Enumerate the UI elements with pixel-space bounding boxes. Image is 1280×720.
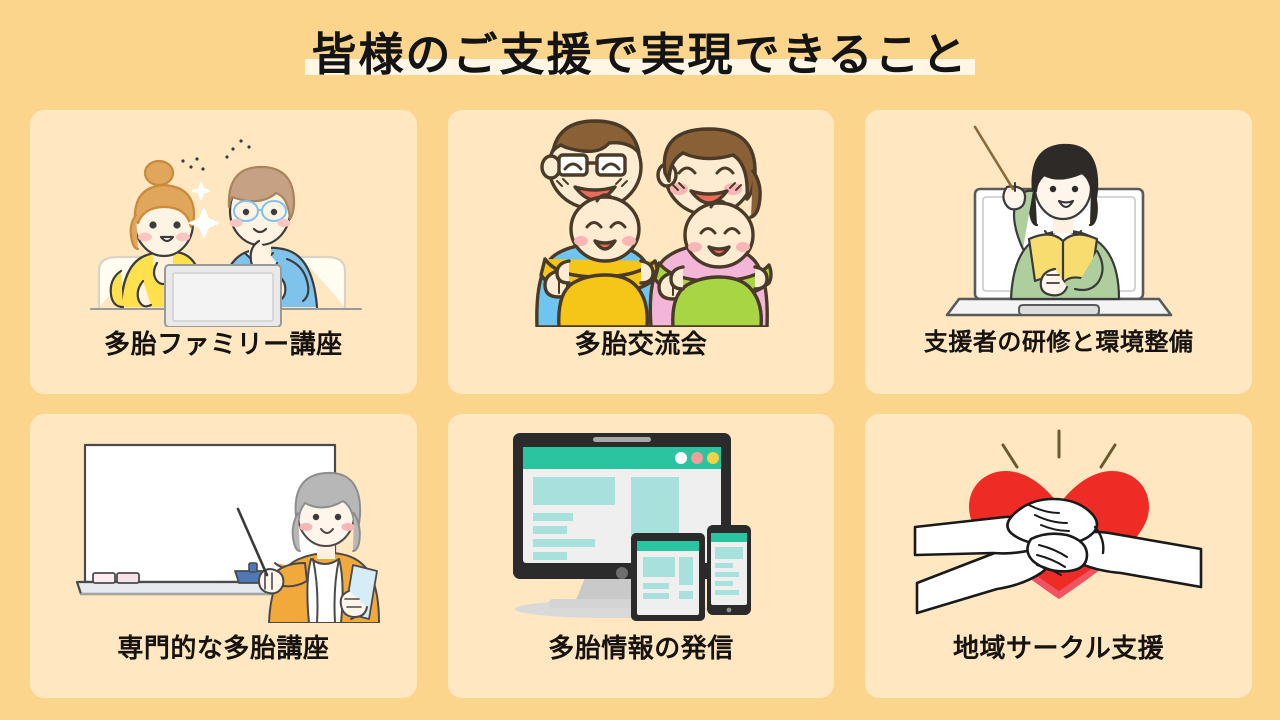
card-label: 支援者の研修と環境整備 bbox=[924, 330, 1194, 356]
online-lecture-laptop-teacher-illustration bbox=[865, 110, 1252, 328]
card-label: 多胎情報の発信 bbox=[548, 634, 734, 663]
title-inner: 皆様のご支援で実現できること bbox=[305, 29, 974, 81]
couple-with-laptop-illustration bbox=[30, 110, 417, 328]
card-label: 多胎ファミリー講座 bbox=[104, 330, 343, 359]
hands-over-heart-illustration bbox=[865, 414, 1252, 632]
card-label: 地域サークル支援 bbox=[953, 634, 1164, 663]
responsive-devices-icon bbox=[491, 423, 791, 623]
card-community-circle-support[interactable]: 地域サークル支援 bbox=[865, 414, 1252, 698]
card-specialized-course[interactable]: 専門的な多胎講座 bbox=[30, 414, 417, 698]
responsive-devices-website-illustration bbox=[448, 414, 835, 632]
parents-holding-twin-babies-illustration bbox=[448, 110, 835, 328]
support-items-grid: 多胎ファミリー講座 bbox=[30, 110, 1252, 698]
online-lecture-icon bbox=[919, 111, 1199, 327]
card-supporter-training[interactable]: 支援者の研修と環境整備 bbox=[865, 110, 1252, 394]
parents-with-twins-icon bbox=[501, 111, 781, 327]
couple-with-laptop-icon bbox=[73, 111, 373, 327]
whiteboard-presenter-illustration bbox=[30, 414, 417, 632]
card-multiple-birth-family-course[interactable]: 多胎ファミリー講座 bbox=[30, 110, 417, 394]
page-title: 皆様のご支援で実現できること bbox=[311, 29, 968, 80]
page-title-area: 皆様のご支援で実現できること bbox=[0, 16, 1280, 94]
whiteboard-presenter-icon bbox=[53, 423, 393, 623]
card-label: 多胎交流会 bbox=[575, 330, 708, 359]
hands-over-heart-icon bbox=[909, 423, 1209, 623]
card-label: 専門的な多胎講座 bbox=[117, 634, 329, 663]
card-multiple-birth-meetup[interactable]: 多胎交流会 bbox=[448, 110, 835, 394]
card-information-dissemination[interactable]: 多胎情報の発信 bbox=[448, 414, 835, 698]
